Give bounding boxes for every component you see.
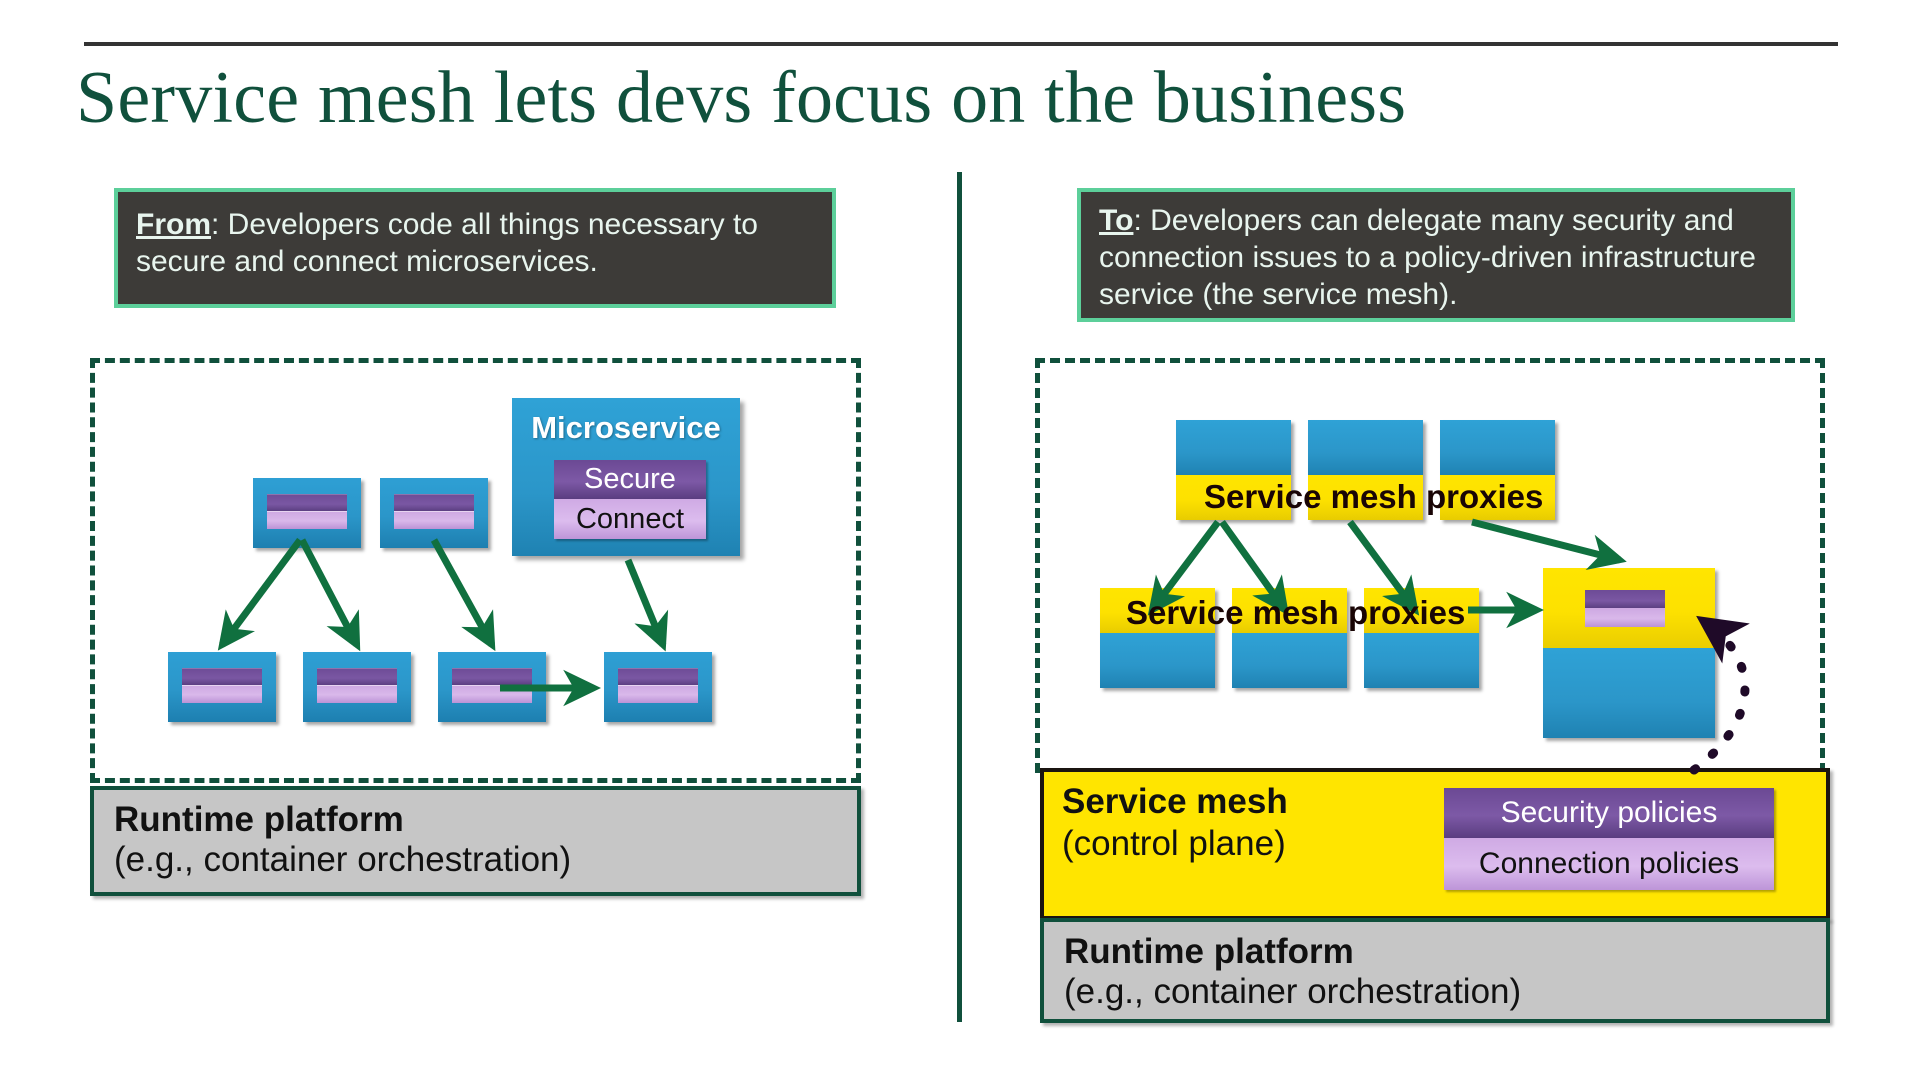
microservice-title: Microservice — [512, 410, 740, 446]
microservice-connect-bar: Connect — [554, 499, 706, 539]
node-secure-bar — [1585, 590, 1665, 608]
node-connect-bar — [452, 685, 532, 703]
right-platform-subtitle: (e.g., container orchestration) — [1064, 972, 1806, 1012]
node-connect-bar — [267, 511, 347, 529]
page-title: Service mesh lets devs focus on the busi… — [76, 60, 1776, 138]
header-rule — [84, 42, 1838, 46]
service-node — [604, 652, 712, 722]
proxy-label-top: Service mesh proxies — [1204, 478, 1543, 516]
service-node — [168, 652, 276, 722]
mesh-subtitle: (control plane) — [1062, 824, 1286, 863]
right-runtime-platform: Runtime platform (e.g., container orches… — [1040, 918, 1830, 1023]
callout-from-lead: From — [136, 208, 211, 241]
callout-from-text: : Developers code all things necessary t… — [136, 208, 758, 278]
node-secure-bar — [182, 668, 262, 685]
node-secure-bar — [267, 494, 347, 511]
node-secure-bar — [452, 668, 532, 685]
node-blue-section — [1440, 420, 1555, 475]
service-node — [303, 652, 411, 722]
service-mesh-control-plane: Service mesh (control plane) Security po… — [1040, 768, 1830, 920]
callout-from: From: Developers code all things necessa… — [114, 188, 836, 308]
node-secure-bar — [317, 668, 397, 685]
node-connect-bar — [394, 511, 474, 529]
node-blue-section — [1176, 420, 1291, 475]
node-connect-bar — [618, 685, 698, 703]
service-node — [253, 478, 361, 548]
panel-divider — [957, 172, 962, 1022]
callout-to-lead: To — [1099, 204, 1133, 237]
service-node — [380, 478, 488, 548]
mesh-title: Service mesh — [1062, 782, 1288, 821]
left-platform-subtitle: (e.g., container orchestration) — [114, 840, 837, 880]
node-blue-section — [1364, 633, 1479, 688]
node-secure-bar — [394, 494, 474, 511]
node-blue-section — [1232, 633, 1347, 688]
node-connect-bar — [317, 685, 397, 703]
node-blue-section — [1543, 648, 1715, 738]
service-node — [438, 652, 546, 722]
microservice-box: Microservice Secure Connect — [512, 398, 740, 556]
callout-to: To: Developers can delegate many securit… — [1077, 188, 1795, 322]
node-blue-section — [1100, 633, 1215, 688]
left-platform-title: Runtime platform — [114, 800, 837, 840]
node-blue-section — [1308, 420, 1423, 475]
proxy-label-bottom: Service mesh proxies — [1126, 594, 1465, 632]
right-platform-title: Runtime platform — [1064, 932, 1806, 972]
connection-policies-bar: Connection policies — [1444, 838, 1774, 890]
security-policies-bar: Security policies — [1444, 788, 1774, 838]
node-connect-bar — [182, 685, 262, 703]
callout-to-text: : Developers can delegate many security … — [1099, 204, 1756, 311]
highlighted-proxy-node — [1543, 568, 1715, 738]
node-connect-bar — [1585, 608, 1665, 627]
left-runtime-platform: Runtime platform (e.g., container orches… — [90, 786, 861, 896]
node-secure-bar — [618, 668, 698, 685]
microservice-secure-bar: Secure — [554, 460, 706, 499]
